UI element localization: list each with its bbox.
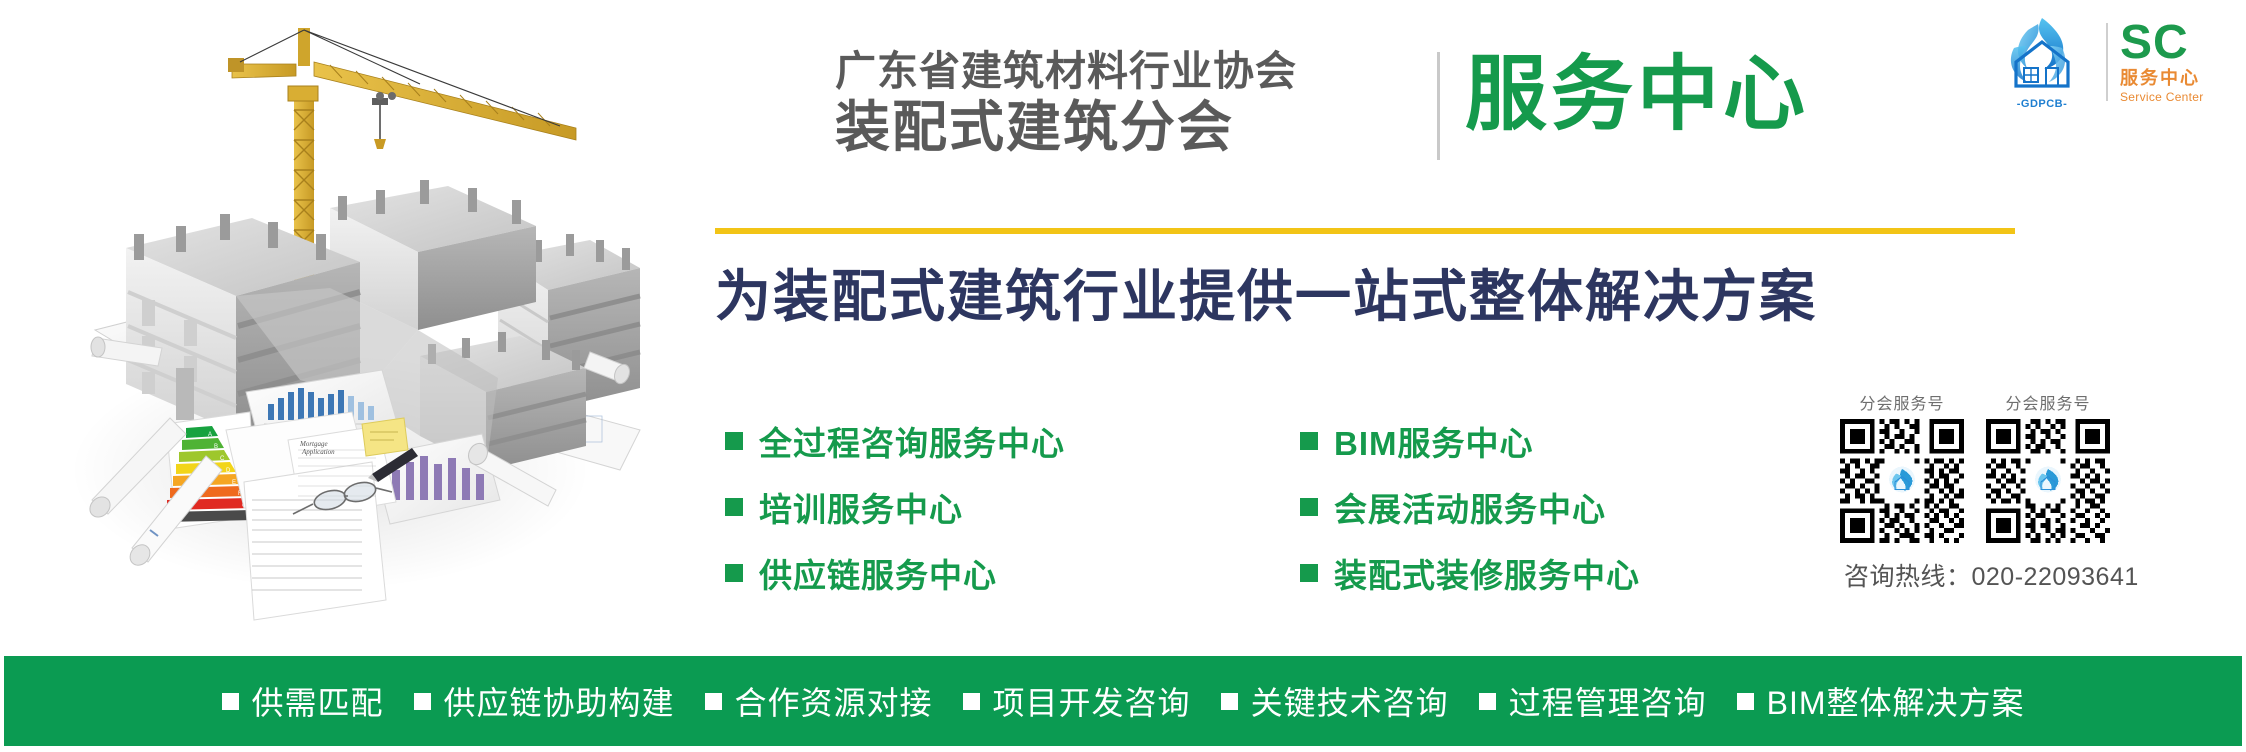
square-bullet-icon	[725, 564, 743, 582]
service-label: BIM服务中心	[1334, 417, 1534, 465]
square-bullet-icon	[414, 693, 431, 710]
square-bullet-icon	[705, 693, 722, 710]
list-item[interactable]: 装配式装修服务中心	[1300, 540, 1640, 606]
footer-label: 关键技术咨询	[1251, 678, 1449, 724]
footer-label: BIM整体解决方案	[1767, 678, 2025, 724]
svg-text:Mortgage: Mortgage	[299, 440, 328, 448]
qr-code-image[interactable]	[1840, 419, 1964, 543]
list-item[interactable]: 全过程咨询服务中心	[725, 408, 1065, 474]
service-list-left: 全过程咨询服务中心 培训服务中心 供应链服务中心	[725, 408, 1065, 606]
service-label: 供应链服务中心	[759, 549, 997, 597]
logo-name-cn: 服务中心	[2120, 67, 2242, 90]
service-label: 装配式装修服务中心	[1334, 549, 1640, 597]
list-item[interactable]: BIM整体解决方案	[1737, 678, 2025, 724]
square-bullet-icon	[1300, 432, 1318, 450]
footer-label: 项目开发咨询	[993, 678, 1191, 724]
title-vertical-divider	[1437, 52, 1440, 160]
square-bullet-icon	[1479, 693, 1496, 710]
hotline-text: 咨询热线：020-22093641	[1840, 557, 2240, 593]
list-item[interactable]: 会展活动服务中心	[1300, 474, 1640, 540]
footer-label: 供应链协助构建	[444, 678, 675, 724]
qr-label: 分会服务号	[1840, 390, 1964, 414]
list-item[interactable]: 过程管理咨询	[1479, 678, 1707, 724]
qr-row: 分会服务号	[1840, 390, 2240, 543]
flame-house-glyph	[1990, 14, 2094, 96]
svg-text:B: B	[214, 444, 218, 450]
square-bullet-icon	[1221, 693, 1238, 710]
list-item[interactable]: 供应链协助构建	[414, 678, 675, 724]
qr-center-logo-icon	[1889, 467, 1915, 493]
list-item[interactable]: 供应链服务中心	[725, 540, 1065, 606]
logo-abbrev: SC	[2120, 20, 2242, 66]
association-name-line2: 装配式建筑分会	[835, 97, 1435, 159]
square-bullet-icon	[963, 693, 980, 710]
list-item[interactable]: 供需匹配	[222, 678, 384, 724]
footer-bar: 供需匹配 供应链协助构建 合作资源对接 项目开发咨询 关键技术咨询 过程管理咨询…	[4, 656, 2242, 746]
qr-center-logo-icon	[2035, 467, 2061, 493]
logo-caption: -GDPCB-	[1990, 98, 2094, 110]
square-bullet-icon	[1300, 498, 1318, 516]
yellow-divider-rule	[715, 228, 2015, 234]
list-item[interactable]: 关键技术咨询	[1221, 678, 1449, 724]
list-item[interactable]: BIM服务中心	[1300, 408, 1640, 474]
service-label: 培训服务中心	[759, 483, 963, 531]
qr-contact-block: 分会服务号	[1840, 390, 2240, 593]
qr-label: 分会服务号	[1986, 390, 2110, 414]
square-bullet-icon	[222, 693, 239, 710]
service-label: 全过程咨询服务中心	[759, 417, 1065, 465]
square-bullet-icon	[725, 432, 743, 450]
association-title: 广东省建筑材料行业协会 装配式建筑分会	[835, 48, 1435, 159]
gdpcb-flame-house-icon: -GDPCB-	[1990, 14, 2094, 110]
svg-text:D: D	[226, 468, 231, 474]
hero-construction-image: ABC DEF GH	[0, 0, 650, 650]
footer-label: 供需匹配	[252, 678, 384, 724]
list-item[interactable]: 合作资源对接	[705, 678, 933, 724]
square-bullet-icon	[1300, 564, 1318, 582]
logo-name-en: Service Center	[2120, 90, 2242, 104]
svg-text:Application: Application	[301, 448, 335, 456]
qr-code-image[interactable]	[1986, 419, 2110, 543]
page-tagline: 为装配式建筑行业提供一站式整体解决方案	[715, 252, 1817, 333]
list-item[interactable]: 项目开发咨询	[963, 678, 1191, 724]
brand-logo: -GDPCB- SC 服务中心 Service Center	[1990, 12, 2242, 112]
footer-label: 合作资源对接	[735, 678, 933, 724]
square-bullet-icon	[1737, 693, 1754, 710]
association-name-line1: 广东省建筑材料行业协会	[835, 48, 1435, 95]
list-item[interactable]: 培训服务中心	[725, 474, 1065, 540]
qr-cell: 分会服务号	[1986, 390, 2110, 543]
crane-hook	[372, 92, 396, 149]
svg-text:E: E	[232, 480, 236, 486]
svg-text:C: C	[220, 456, 225, 462]
logo-wordmark: SC 服务中心 Service Center	[2120, 20, 2242, 104]
qr-cell: 分会服务号	[1840, 390, 1964, 543]
service-label: 会展活动服务中心	[1334, 483, 1606, 531]
square-bullet-icon	[725, 498, 743, 516]
footer-items: 供需匹配 供应链协助构建 合作资源对接 项目开发咨询 关键技术咨询 过程管理咨询…	[222, 678, 2025, 724]
logo-divider	[2106, 23, 2108, 101]
service-center-heading: 服务中心	[1465, 50, 1809, 140]
construction-site-3d-render: ABC DEF GH	[0, 0, 650, 650]
yellow-sticky-note	[362, 418, 408, 456]
service-list-right: BIM服务中心 会展活动服务中心 装配式装修服务中心	[1300, 408, 1640, 606]
footer-label: 过程管理咨询	[1509, 678, 1707, 724]
svg-text:A: A	[208, 432, 212, 438]
